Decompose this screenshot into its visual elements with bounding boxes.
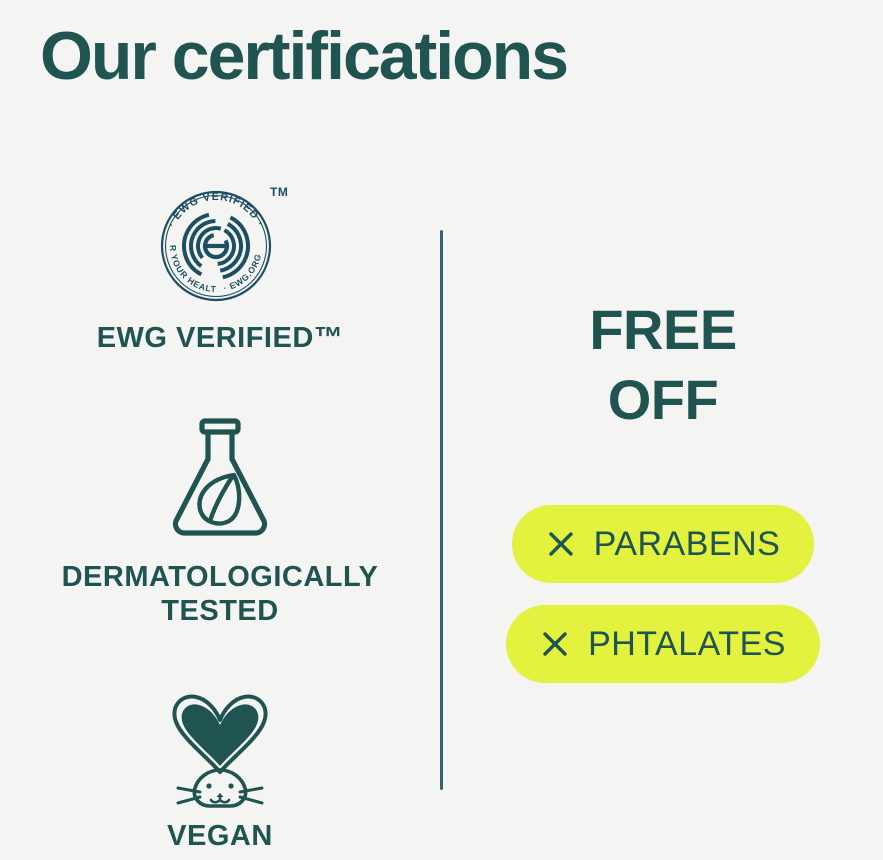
certification-label-ewg-verified: EWG VERIFIED™ bbox=[97, 322, 344, 355]
page-title: Our certifications bbox=[40, 22, 567, 90]
certification-vegan: VEGAN bbox=[0, 686, 440, 853]
x-cross-icon bbox=[540, 629, 570, 659]
derma-line-2: TESTED bbox=[161, 595, 278, 627]
free-off-list: PARABENS PHTALATES bbox=[506, 505, 820, 683]
svg-text:TM: TM bbox=[270, 185, 288, 199]
free-off-column: FREEOFF PARABENS PHTALA bbox=[443, 170, 883, 860]
derma-line-1: DERMATOLOGICALLY bbox=[62, 561, 379, 593]
certification-dermatologically-tested: DERMATOLOGICALLYTESTED bbox=[0, 415, 440, 628]
free-off-label-phtalates: PHTALATES bbox=[588, 625, 786, 664]
svg-text:· EWG VERIFIED ·: · EWG VERIFIED · bbox=[166, 191, 267, 229]
free-off-line-2: OFF bbox=[608, 368, 718, 431]
x-cross-icon bbox=[546, 529, 576, 559]
free-off-pill-phtalates[interactable]: PHTALATES bbox=[506, 605, 820, 683]
flask-leaf-icon bbox=[161, 415, 279, 539]
free-off-pill-parabens[interactable]: PARABENS bbox=[512, 505, 815, 583]
certifications-column: · EWG VERIFIED · FOR YOUR HEALTH · · EWG… bbox=[0, 170, 440, 860]
free-off-heading: FREEOFF bbox=[589, 295, 736, 435]
bunny-heart-ears-icon bbox=[154, 686, 286, 812]
free-off-label-parabens: PARABENS bbox=[594, 525, 781, 564]
certification-ewg-verified: · EWG VERIFIED · FOR YOUR HEALTH · · EWG… bbox=[0, 178, 440, 355]
certifications-section: · EWG VERIFIED · FOR YOUR HEALTH · · EWG… bbox=[0, 170, 883, 860]
certification-label-vegan: VEGAN bbox=[167, 820, 273, 853]
ewg-verified-seal-icon: · EWG VERIFIED · FOR YOUR HEALTH · · EWG… bbox=[144, 178, 296, 308]
certification-label-dermatologically-tested: DERMATOLOGICALLYTESTED bbox=[62, 561, 379, 628]
free-off-line-1: FREE bbox=[589, 298, 736, 361]
